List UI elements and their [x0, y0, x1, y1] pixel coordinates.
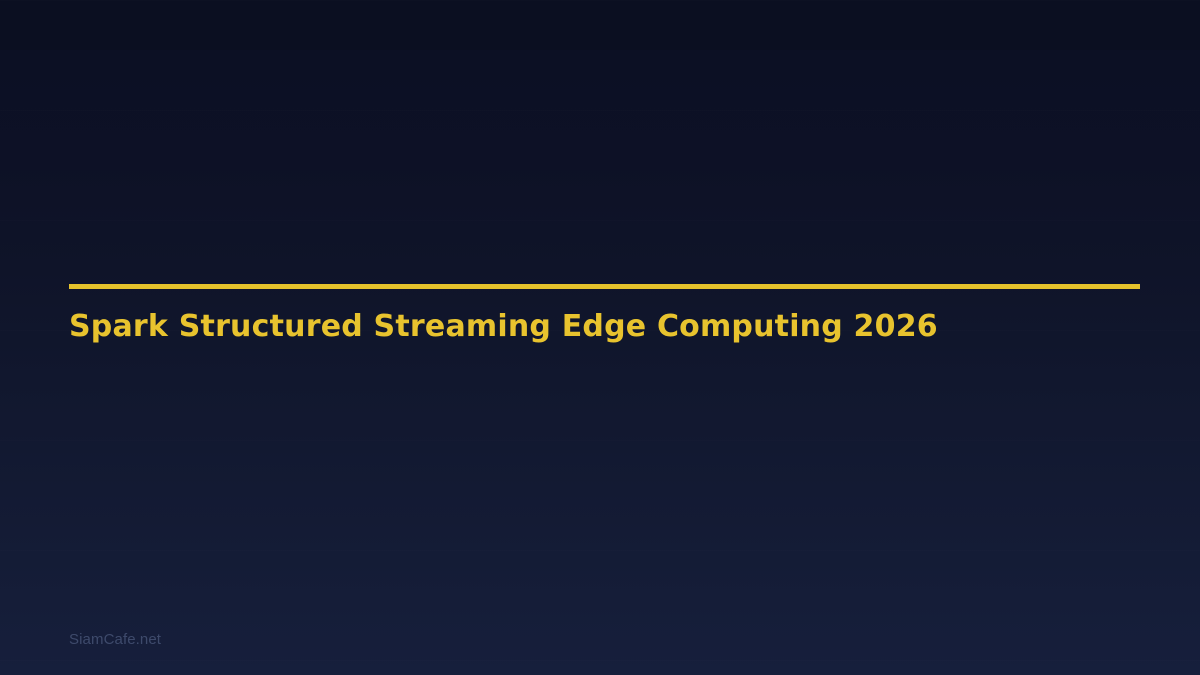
footer-attribution: SiamCafe.net	[69, 630, 161, 650]
title-block: Spark Structured Streaming Edge Computin…	[69, 284, 1140, 346]
accent-rule	[69, 284, 1140, 289]
page-title: Spark Structured Streaming Edge Computin…	[69, 308, 1140, 346]
title-slide: Spark Structured Streaming Edge Computin…	[0, 0, 1200, 675]
